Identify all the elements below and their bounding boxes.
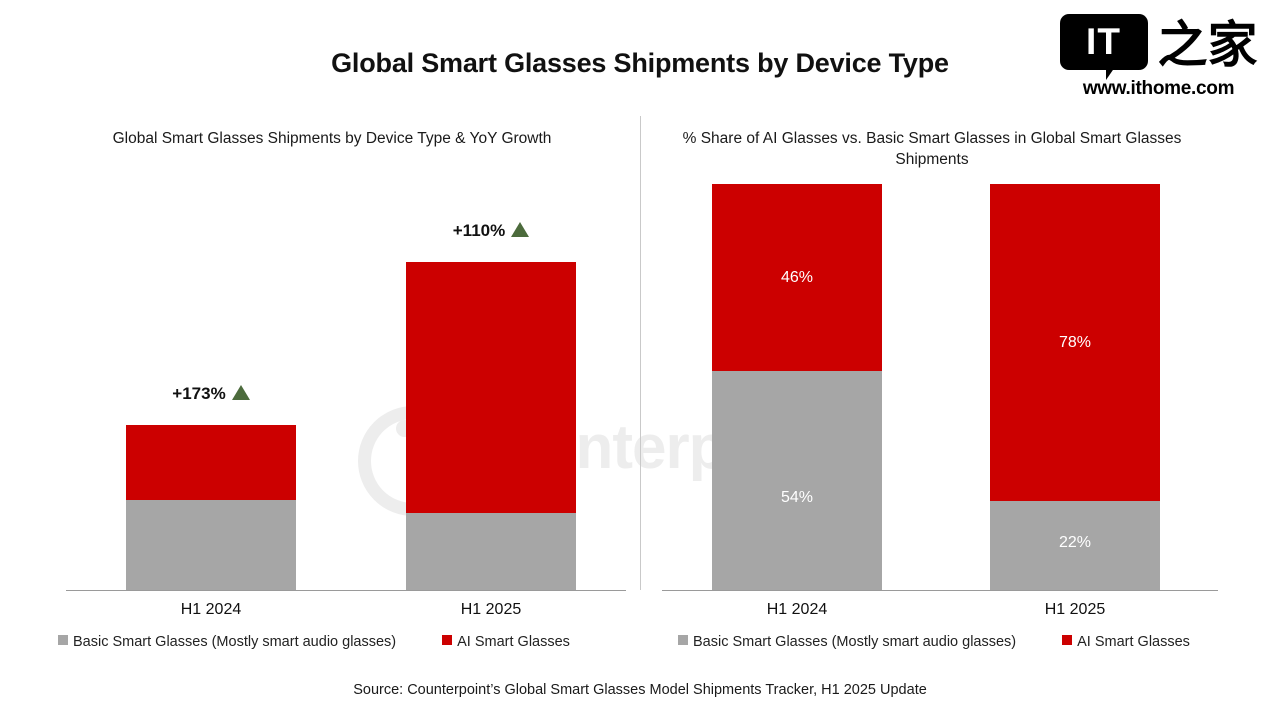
logo-url-text: www.ithome.com bbox=[1051, 78, 1266, 100]
growth-annotation-h1-2025-text: +110% bbox=[453, 221, 505, 240]
legend-item-ai[interactable]: AI Smart Glasses bbox=[442, 634, 570, 650]
growth-annotation-h1-2024-text: +173% bbox=[172, 384, 225, 403]
left-chart-title: Global Smart Glasses Shipments by Device… bbox=[62, 128, 602, 149]
legend-item-basic[interactable]: Basic Smart Glasses (Mostly smart audio … bbox=[678, 634, 1016, 650]
panel-divider bbox=[640, 116, 641, 590]
right-bar-h1-2024-ai-segment[interactable]: 46% bbox=[712, 184, 882, 371]
triangle-up-icon bbox=[511, 222, 529, 237]
left-bar-h1-2025-ai-segment[interactable] bbox=[406, 262, 576, 513]
legend-label-ai: AI Smart Glasses bbox=[1077, 634, 1190, 650]
right-chart-plot-area: 46% 54% 78% 22% bbox=[662, 176, 1218, 590]
growth-annotation-h1-2025: +110% bbox=[406, 221, 576, 241]
left-bar-h1-2024[interactable] bbox=[126, 425, 296, 590]
logo-it-text: IT bbox=[1060, 14, 1148, 70]
left-bar-h1-2024-basic-segment[interactable] bbox=[126, 500, 296, 590]
legend-swatch-ai-icon bbox=[1062, 635, 1072, 645]
ithome-bubble-icon: IT bbox=[1060, 14, 1148, 76]
ithome-logo: IT 之家 www.ithome.com bbox=[1051, 14, 1266, 100]
right-bar-h1-2025[interactable]: 78% 22% bbox=[990, 184, 1160, 590]
right-bar-h1-2024-ai-label: 46% bbox=[712, 269, 882, 287]
left-bar-h1-2025-basic-segment[interactable] bbox=[406, 513, 576, 590]
right-chart-title: % Share of AI Glasses vs. Basic Smart Gl… bbox=[672, 128, 1192, 170]
left-xtick-h1-2025: H1 2025 bbox=[406, 601, 576, 619]
right-bar-h1-2024-basic-segment[interactable]: 54% bbox=[712, 371, 882, 590]
right-chart-axis bbox=[662, 590, 1218, 591]
right-bar-h1-2025-ai-segment[interactable]: 78% bbox=[990, 184, 1160, 501]
legend-item-basic[interactable]: Basic Smart Glasses (Mostly smart audio … bbox=[58, 634, 396, 650]
left-bar-h1-2025[interactable] bbox=[406, 262, 576, 590]
right-xtick-h1-2025: H1 2025 bbox=[990, 601, 1160, 619]
legend-label-ai: AI Smart Glasses bbox=[457, 634, 570, 650]
right-bar-h1-2025-basic-label: 22% bbox=[990, 534, 1160, 552]
right-bar-h1-2024-basic-label: 54% bbox=[712, 489, 882, 507]
right-bar-h1-2025-ai-label: 78% bbox=[990, 334, 1160, 352]
left-xtick-h1-2024: H1 2024 bbox=[126, 601, 296, 619]
triangle-up-icon bbox=[232, 385, 250, 400]
legend-swatch-ai-icon bbox=[442, 635, 452, 645]
left-chart-axis bbox=[66, 590, 626, 591]
left-chart-plot-area: +173% +110% bbox=[66, 176, 626, 590]
logo-chinese-text: 之家 bbox=[1158, 17, 1258, 73]
legend-label-basic: Basic Smart Glasses (Mostly smart audio … bbox=[693, 634, 1016, 650]
left-chart-legend: Basic Smart Glasses (Mostly smart audio … bbox=[58, 634, 618, 654]
source-note: Source: Counterpoint’s Global Smart Glas… bbox=[0, 682, 1280, 698]
right-xtick-h1-2024: H1 2024 bbox=[712, 601, 882, 619]
left-bar-h1-2024-ai-segment[interactable] bbox=[126, 425, 296, 500]
legend-swatch-basic-icon bbox=[678, 635, 688, 645]
right-chart-legend: Basic Smart Glasses (Mostly smart audio … bbox=[678, 634, 1218, 654]
growth-annotation-h1-2024: +173% bbox=[126, 384, 296, 404]
right-bar-h1-2025-basic-segment[interactable]: 22% bbox=[990, 501, 1160, 590]
legend-item-ai[interactable]: AI Smart Glasses bbox=[1062, 634, 1190, 650]
legend-swatch-basic-icon bbox=[58, 635, 68, 645]
legend-label-basic: Basic Smart Glasses (Mostly smart audio … bbox=[73, 634, 396, 650]
right-bar-h1-2024[interactable]: 46% 54% bbox=[712, 184, 882, 590]
